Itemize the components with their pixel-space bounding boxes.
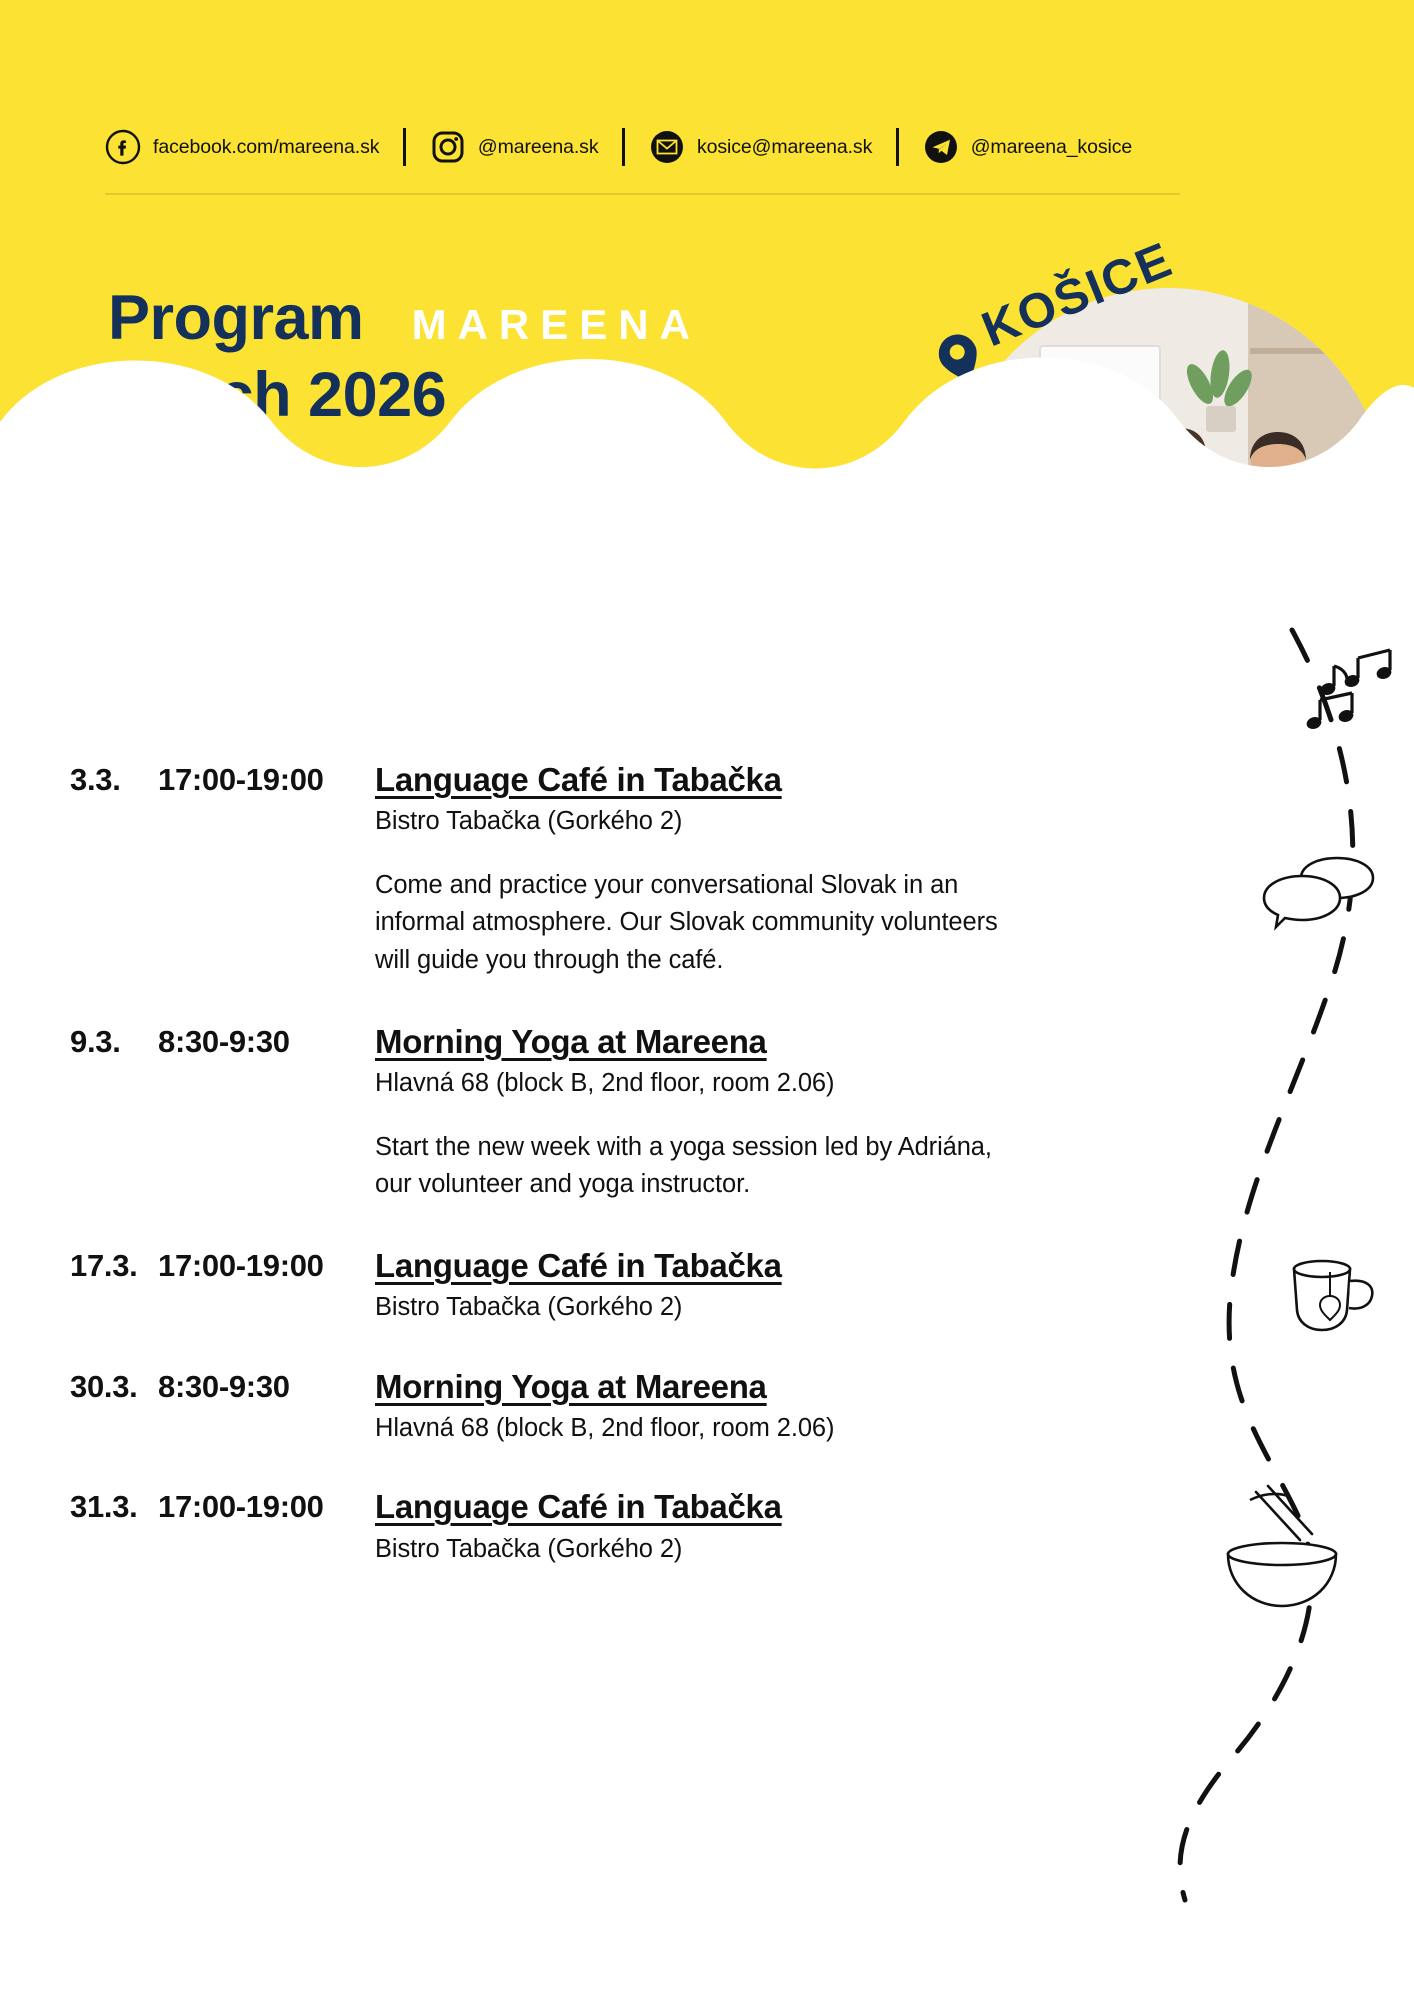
contact-divider (105, 193, 1180, 195)
event-item[interactable]: 9.3. 8:30-9:30 Morning Yoga at Mareena H… (0, 1022, 1250, 1204)
speech-bubbles-icon (1264, 858, 1373, 927)
contact-bar: facebook.com/mareena.sk @mareena.sk kosi… (105, 118, 1180, 176)
event-title[interactable]: Language Café in Tabačka (375, 760, 1190, 800)
contact-instagram[interactable]: @mareena.sk (430, 129, 599, 165)
facebook-icon (105, 129, 141, 165)
event-item[interactable]: 17.3. 17:00-19:00 Language Café in Tabač… (0, 1246, 1250, 1325)
music-notes-icon (1305, 650, 1393, 731)
event-title[interactable]: Morning Yoga at Mareena (375, 1367, 1190, 1407)
contact-telegram-label: @mareena_kosice (971, 136, 1132, 159)
event-time: 8:30-9:30 (130, 1022, 375, 1062)
event-time: 17:00-19:00 (130, 1246, 375, 1286)
event-place: Hlavná 68 (block B, 2nd floor, room 2.06… (375, 1411, 1190, 1445)
contact-telegram[interactable]: @mareena_kosice (923, 129, 1132, 165)
page-header: facebook.com/mareena.sk @mareena.sk kosi… (0, 0, 1414, 530)
event-date: 3.3. (0, 760, 130, 800)
email-icon (649, 129, 685, 165)
event-description: Come and practice your conversational Sl… (375, 867, 1000, 980)
event-date: 30.3. (0, 1367, 130, 1407)
event-item[interactable]: 31.3. 17:00-19:00 Language Café in Tabač… (0, 1487, 1250, 1566)
contact-facebook[interactable]: facebook.com/mareena.sk (105, 129, 379, 165)
contact-separator (403, 128, 406, 166)
event-place: Bistro Tabačka (Gorkého 2) (375, 1290, 1190, 1324)
contact-facebook-label: facebook.com/mareena.sk (153, 136, 379, 159)
event-item[interactable]: 30.3. 8:30-9:30 Morning Yoga at Mareena … (0, 1367, 1250, 1446)
contact-email-label: kosice@mareena.sk (697, 136, 872, 159)
event-place: Bistro Tabačka (Gorkého 2) (375, 804, 1190, 838)
contact-instagram-label: @mareena.sk (478, 136, 599, 159)
event-date: 9.3. (0, 1022, 130, 1062)
event-title[interactable]: Language Café in Tabačka (375, 1487, 1190, 1527)
event-item[interactable]: 3.3. 17:00-19:00 Language Café in Tabačk… (0, 760, 1250, 980)
event-date: 31.3. (0, 1487, 130, 1527)
header-wave-divider (0, 330, 1414, 530)
event-time: 17:00-19:00 (130, 760, 375, 800)
instagram-icon (430, 129, 466, 165)
event-time: 17:00-19:00 (130, 1487, 375, 1527)
contact-separator (622, 128, 625, 166)
contact-email[interactable]: kosice@mareena.sk (649, 129, 872, 165)
event-title[interactable]: Language Café in Tabačka (375, 1246, 1190, 1286)
event-date: 17.3. (0, 1246, 130, 1286)
contact-separator (896, 128, 899, 166)
event-title[interactable]: Morning Yoga at Mareena (375, 1022, 1190, 1062)
tea-cup-icon (1294, 1261, 1372, 1330)
event-place: Hlavná 68 (block B, 2nd floor, room 2.06… (375, 1066, 1190, 1100)
telegram-icon (923, 129, 959, 165)
event-time: 8:30-9:30 (130, 1367, 375, 1407)
event-place: Bistro Tabačka (Gorkého 2) (375, 1532, 1190, 1566)
event-description: Start the new week with a yoga session l… (375, 1129, 1000, 1204)
event-list: 3.3. 17:00-19:00 Language Café in Tabačk… (0, 760, 1250, 1608)
